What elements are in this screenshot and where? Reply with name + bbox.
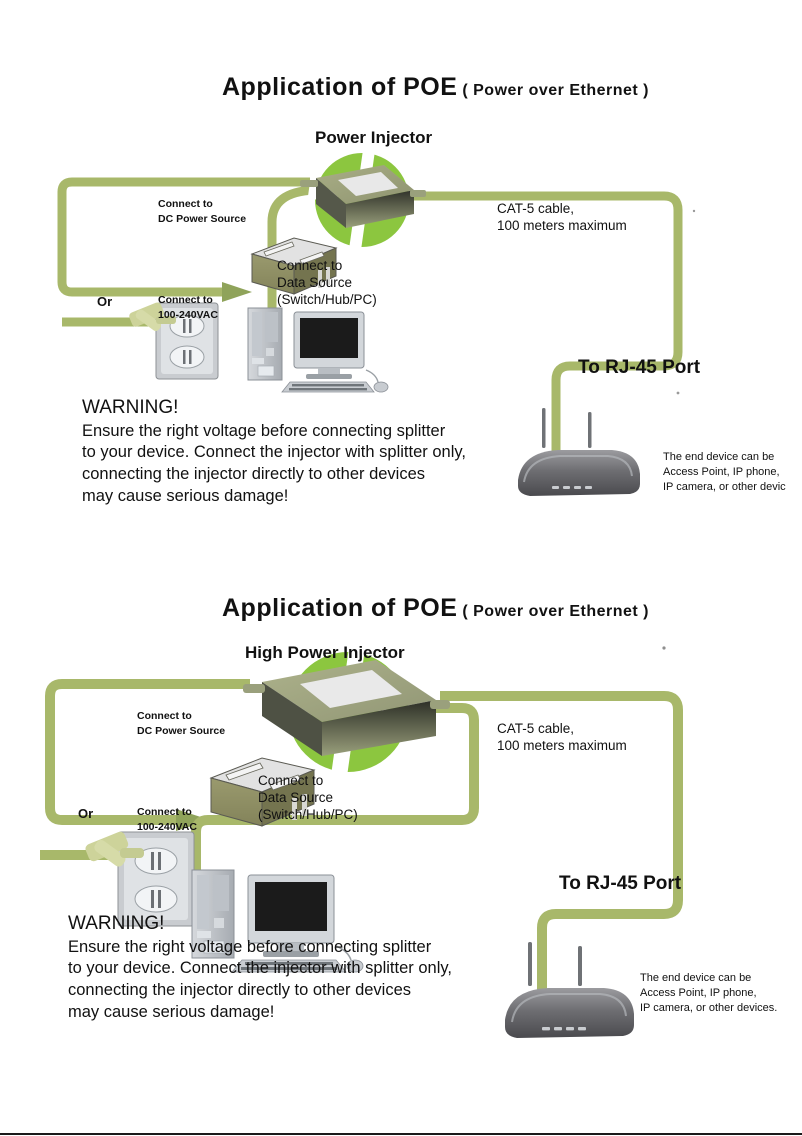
diagram-2-title: Application of POE ( Power over Ethernet… [222,594,649,623]
warning-block-2: WARNING! Ensure the right voltage before… [68,912,452,1023]
ac-voltage-2-line2: 100-240VAC [137,820,197,835]
ac-voltage-label-2: Connect to 100-240VAC [137,805,197,835]
data-source-line1: Connect to [277,258,377,275]
data-source-2-line1: Connect to [258,773,358,790]
or-label: Or [97,294,112,309]
warning-line4: may cause serious damage! [82,486,466,508]
warning-2-line4: may cause serious damage! [68,1002,452,1024]
warning-2-heading: WARNING! [68,912,452,936]
dc-power-label-2: Connect to DC Power Source [137,709,225,739]
data-source-label-2: Connect to Data Source (Switch/Hub/PC) [258,773,358,824]
ac-voltage-line2: 100-240VAC [158,308,218,323]
warning-line1: Ensure the right voltage before connecti… [82,421,466,443]
warning-block-1: WARNING! Ensure the right voltage before… [82,396,466,507]
or-label-2: Or [78,806,93,821]
dc-power-label-line1: Connect to [158,197,246,212]
end-device-2-line3: IP camera, or other devices. [640,1001,777,1016]
cat5-label: CAT-5 cable, 100 meters maximum [497,201,627,235]
title-sub: ( Power over Ethernet ) [462,82,649,99]
title-main-2: Application of POE [222,594,457,622]
end-device-2-line1: The end device can be [640,971,777,986]
page-bottom-rule [0,1133,802,1135]
end-device-line3: IP camera, or other devic [663,480,786,495]
end-device-line2: Access Point, IP phone, [663,465,786,480]
power-injector-label: Power Injector [315,128,432,148]
ac-voltage-2-line1: Connect to [137,805,197,820]
data-source-label: Connect to Data Source (Switch/Hub/PC) [277,258,377,309]
data-source-2-line2: Data Source [258,790,358,807]
data-source-line2: Data Source [277,275,377,292]
dc-power-label-line2: DC Power Source [158,212,246,227]
poe-diagram-high-power: Application of POE ( Power over Ethernet… [0,560,802,1072]
high-power-injector-label: High Power Injector [245,643,405,663]
ac-voltage-line1: Connect to [158,293,218,308]
dc-power-2-line2: DC Power Source [137,724,225,739]
dc-power-2-line1: Connect to [137,709,225,724]
dc-power-label: Connect to DC Power Source [158,197,246,227]
data-source-line3: (Switch/Hub/PC) [277,292,377,309]
cat5-label-2: CAT-5 cable, 100 meters maximum [497,721,627,755]
cat5-line2: 100 meters maximum [497,218,627,235]
title-sub-2: ( Power over Ethernet ) [462,603,649,620]
cat5-2-line2: 100 meters maximum [497,738,627,755]
title-main: Application of POE [222,73,457,101]
warning-2-line3: connecting the injector directly to othe… [68,980,452,1002]
end-device-note-2: The end device can be Access Point, IP p… [640,971,777,1016]
warning-2-line1: Ensure the right voltage before connecti… [68,937,452,959]
ac-voltage-label: Connect to 100-240VAC [158,293,218,323]
diagram-1-title: Application of POE ( Power over Ethernet… [222,73,649,102]
end-device-2-line2: Access Point, IP phone, [640,986,777,1001]
rj45-port-label-2: To RJ-45 Port [559,873,681,895]
warning-line2: to your device. Connect the injector wit… [82,442,466,464]
end-device-note: The end device can be Access Point, IP p… [663,450,786,495]
warning-2-line2: to your device. Connect the injector wit… [68,958,452,980]
cat5-2-line1: CAT-5 cable, [497,721,627,738]
poe-diagram-standard: Application of POE ( Power over Ethernet… [0,0,802,560]
warning-line3: connecting the injector directly to othe… [82,464,466,486]
warning-heading: WARNING! [82,396,466,420]
end-device-line1: The end device can be [663,450,786,465]
data-source-2-line3: (Switch/Hub/PC) [258,807,358,824]
cat5-line1: CAT-5 cable, [497,201,627,218]
rj45-port-label: To RJ-45 Port [578,357,700,379]
